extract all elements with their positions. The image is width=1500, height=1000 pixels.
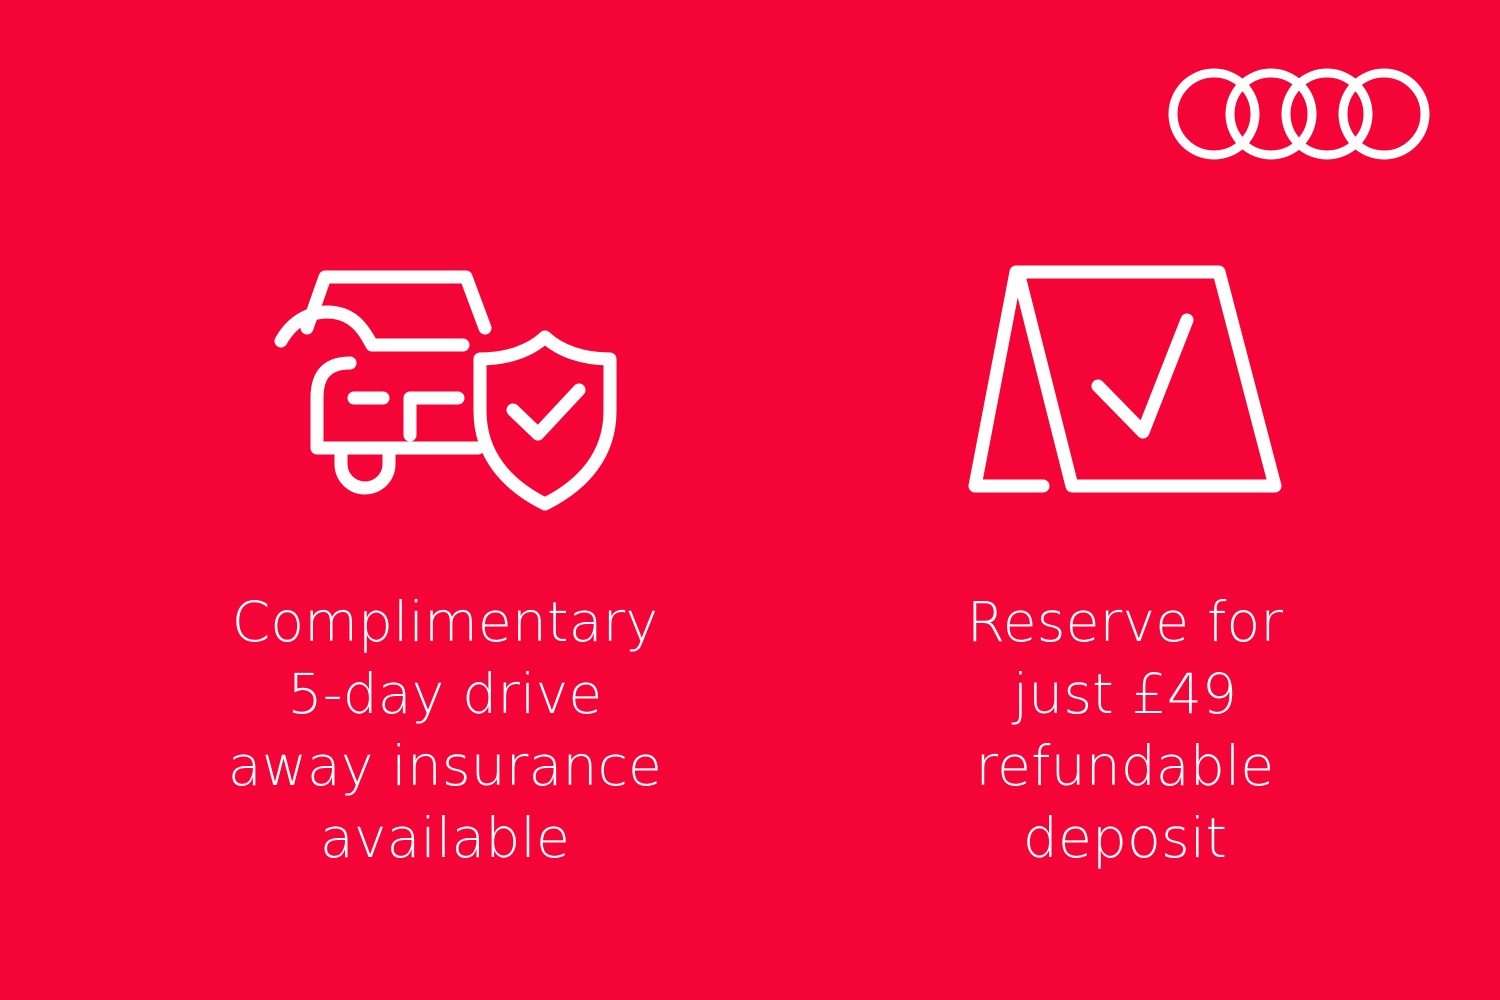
feature-insurance-caption: Complimentary 5-day drive away insurance… — [228, 586, 662, 874]
feature-insurance: Complimentary 5-day drive away insurance… — [110, 250, 780, 874]
feature-columns: Complimentary 5-day drive away insurance… — [0, 0, 1500, 1000]
reservation-card-check-icon — [965, 250, 1285, 515]
car-wheel — [341, 449, 389, 488]
feature-deposit-caption: Reserve for just £49 refundable deposit — [967, 586, 1283, 874]
car-body — [317, 363, 478, 448]
car-roof — [307, 277, 485, 328]
car-shield-icon — [273, 250, 618, 515]
card-check-icon — [1098, 320, 1187, 432]
card-front-panel — [1018, 272, 1275, 486]
shield-check-icon — [513, 390, 579, 434]
feature-deposit: Reserve for just £49 refundable deposit — [810, 250, 1440, 874]
promo-banner: Complimentary 5-day drive away insurance… — [0, 0, 1500, 1000]
car-door-frame — [410, 398, 458, 435]
